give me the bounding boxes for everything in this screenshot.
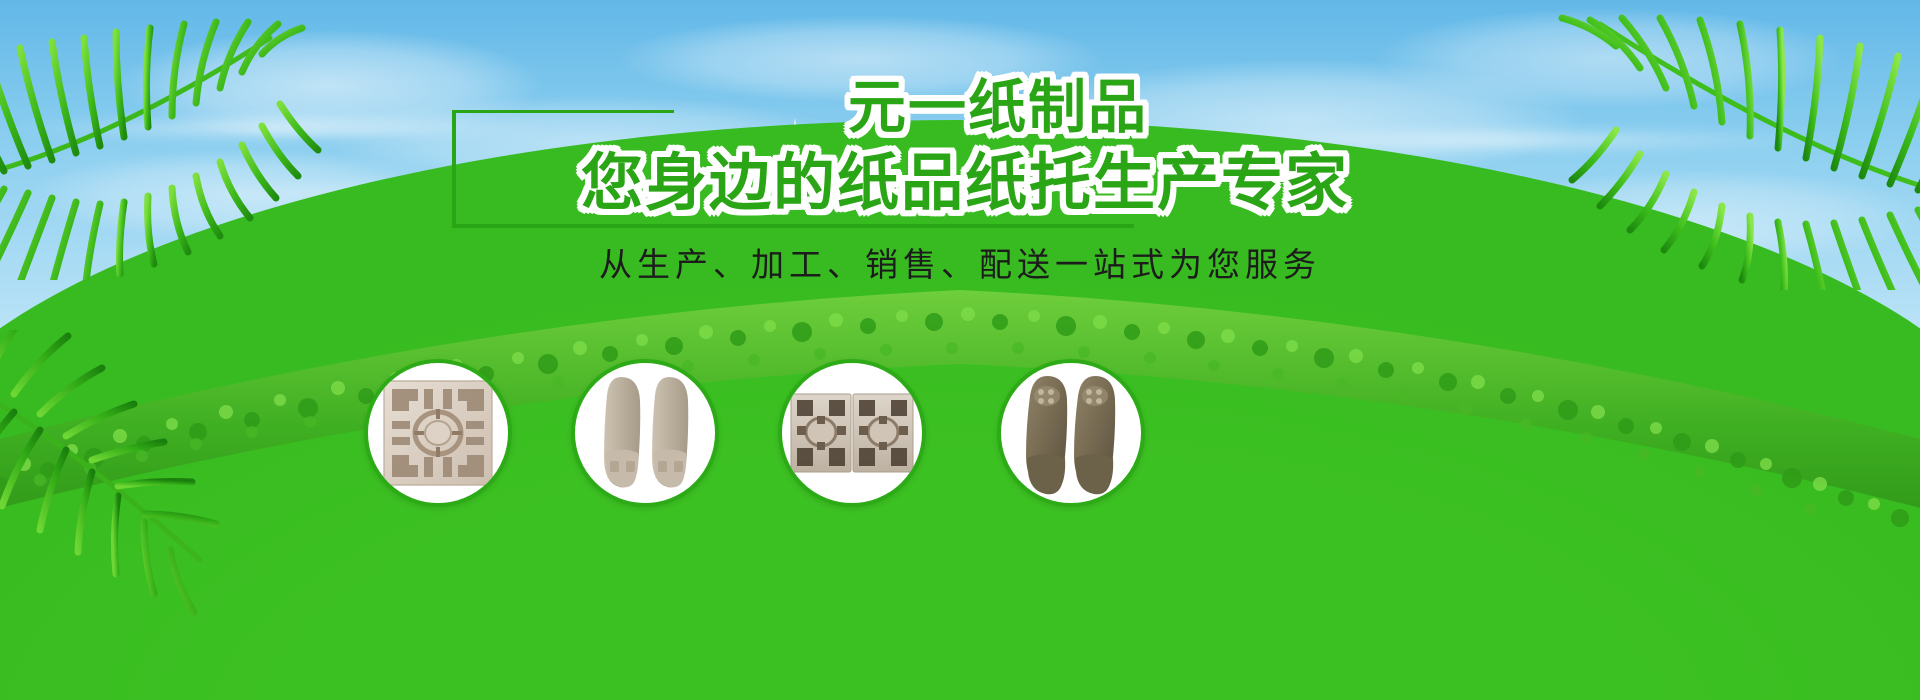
- molded-pulp-square-tray-icon: [380, 377, 496, 489]
- palm-leaf-icon: [0, 330, 250, 630]
- product-circle-molded-pulp-shoe-insert-light[interactable]: [571, 359, 719, 507]
- product-circle-molded-pulp-double-tray[interactable]: [778, 359, 926, 507]
- molded-pulp-shoe-insert-dark-icon: [1017, 370, 1125, 496]
- product-circle-molded-pulp-shoe-insert-dark[interactable]: [997, 359, 1145, 507]
- molded-pulp-shoe-insert-light-icon: [593, 369, 697, 497]
- promotional-banner: 元一纸制品 您身边的纸品纸托生产专家 从生产、加工、销售、配送一站式为您服务: [0, 0, 1920, 700]
- molded-pulp-double-tray-icon: [789, 390, 915, 476]
- palm-leaf-icon: [1540, 0, 1920, 290]
- product-circle-molded-pulp-square-tray[interactable]: [364, 359, 512, 507]
- palm-leaf-icon: [0, 0, 330, 280]
